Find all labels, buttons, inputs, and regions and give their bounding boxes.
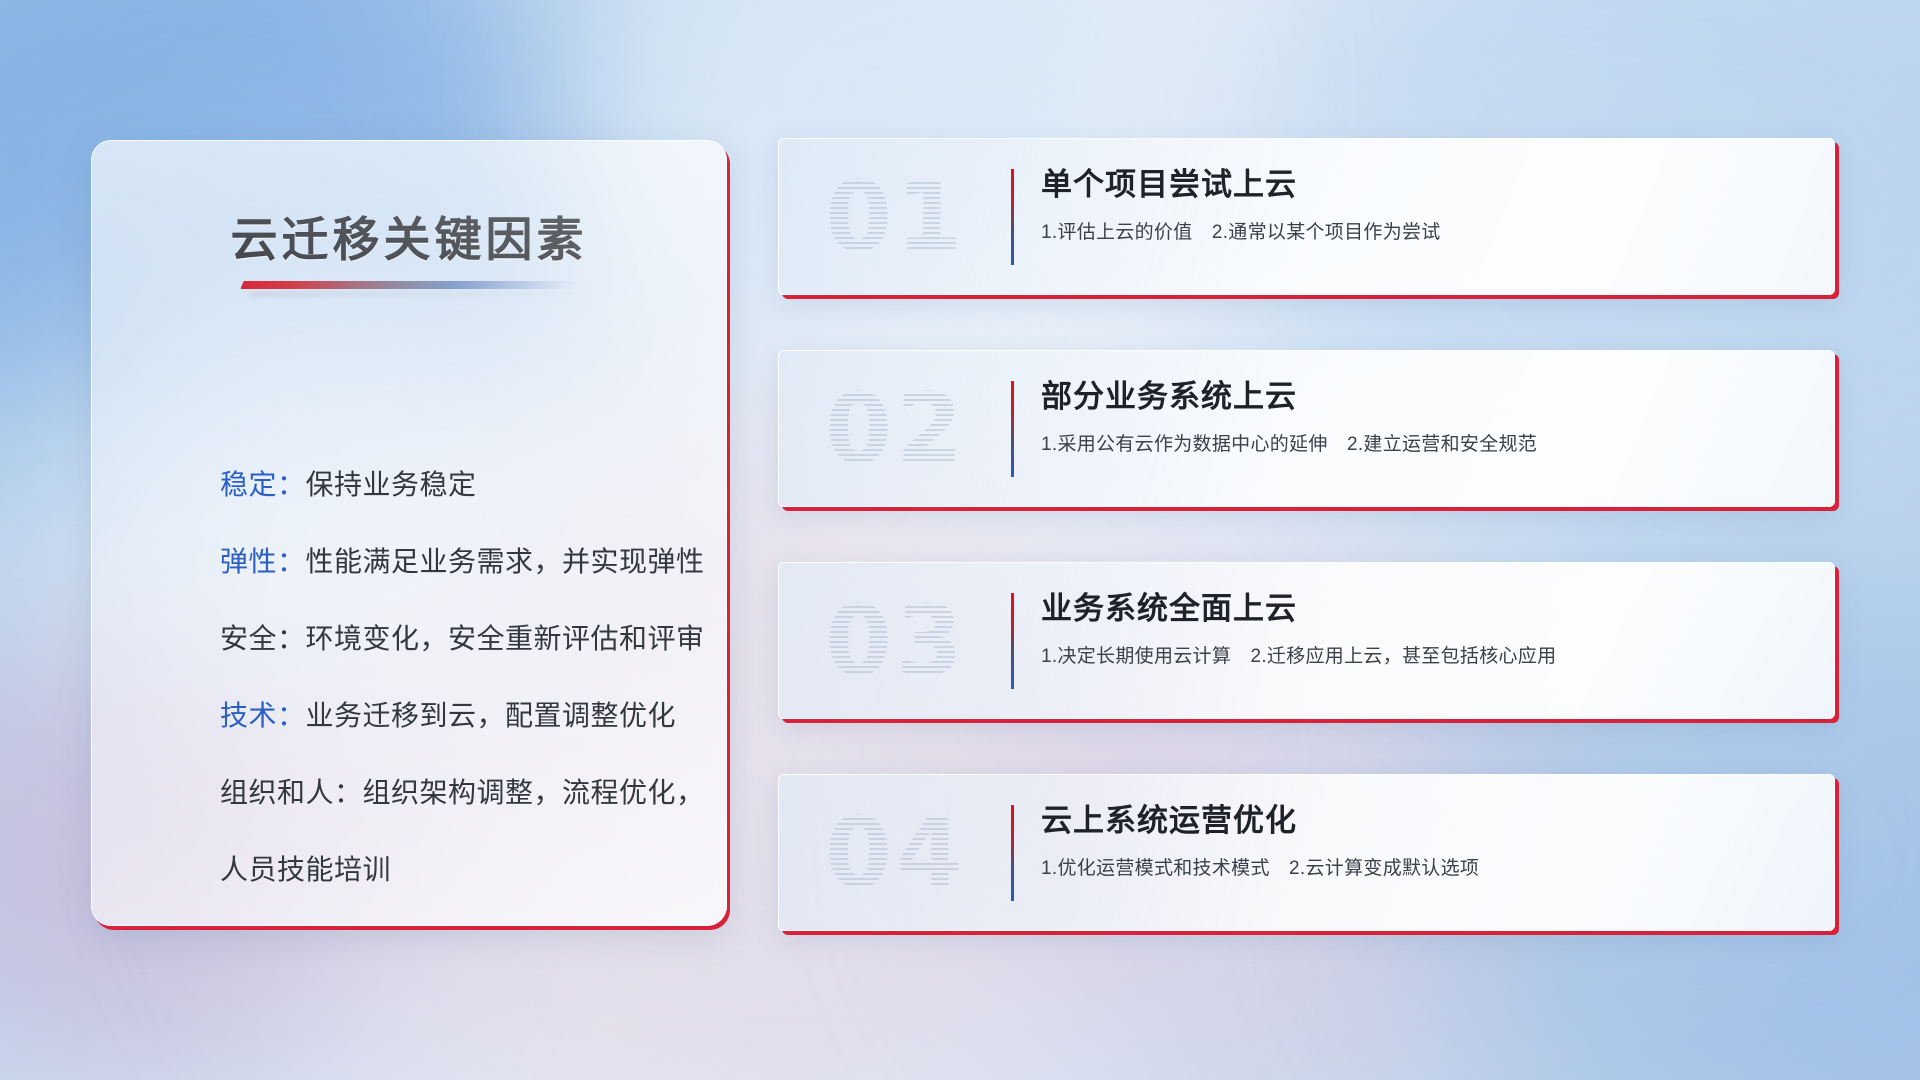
title-underline xyxy=(240,281,583,289)
stage-number-watermark: 01 xyxy=(801,147,991,287)
stage-card-title: 单个项目尝试上云 xyxy=(1041,163,1810,207)
stage-card-description: 1.决定长期使用云计算 2.迁移应用上云，甚至包括核心应用 xyxy=(1041,643,1810,671)
stage-card-title: 业务系统全面上云 xyxy=(1041,587,1810,631)
factor-label: 安全： xyxy=(220,623,306,654)
page-title: 云迁移关键因素 xyxy=(92,201,726,270)
factor-label: 稳定： xyxy=(220,469,306,500)
stage-card-description: 1.优化运营模式和技术模式 2.云计算变成默认选项 xyxy=(1041,855,1810,883)
stage-card[interactable]: 01单个项目尝试上云1.评估上云的价值 2.通常以某个项目作为尝试 xyxy=(778,138,1835,295)
factor-value: 业务迁移到云，配置调整优化 xyxy=(306,700,677,731)
stage-number-watermark: 02 xyxy=(801,359,991,499)
title-underline-shadow xyxy=(249,291,581,297)
key-factors-panel: 云迁移关键因素 稳定：保持业务稳定弹性：性能满足业务需求，并实现弹性安全：环境变… xyxy=(91,140,727,926)
stage-card-description: 1.评估上云的价值 2.通常以某个项目作为尝试 xyxy=(1041,219,1810,247)
factor-value: 保持业务稳定 xyxy=(306,469,477,500)
factor-item-continuation: 人员技能培训 xyxy=(220,856,686,884)
factor-list: 稳定：保持业务稳定弹性：性能满足业务需求，并实现弹性安全：环境变化，安全重新评估… xyxy=(220,471,686,884)
stage-card[interactable]: 03业务系统全面上云1.决定长期使用云计算 2.迁移应用上云，甚至包括核心应用 xyxy=(778,562,1835,719)
accent-bar xyxy=(1011,593,1014,689)
stage-card-body: 部分业务系统上云1.采用公有云作为数据中心的延伸 2.建立运营和安全规范 xyxy=(1041,375,1810,459)
stage-card-body: 云上系统运营优化1.优化运营模式和技术模式 2.云计算变成默认选项 xyxy=(1041,799,1810,883)
factor-item: 组织和人：组织架构调整，流程优化， xyxy=(220,779,686,807)
factor-item: 技术：业务迁移到云，配置调整优化 xyxy=(220,702,686,730)
stage-card-body: 单个项目尝试上云1.评估上云的价值 2.通常以某个项目作为尝试 xyxy=(1041,163,1810,247)
stage-card-title: 部分业务系统上云 xyxy=(1041,375,1810,419)
stage-card-body: 业务系统全面上云1.决定长期使用云计算 2.迁移应用上云，甚至包括核心应用 xyxy=(1041,587,1810,671)
stage-card-description: 1.采用公有云作为数据中心的延伸 2.建立运营和安全规范 xyxy=(1041,431,1810,459)
stage-card[interactable]: 02部分业务系统上云1.采用公有云作为数据中心的延伸 2.建立运营和安全规范 xyxy=(778,350,1835,507)
factor-item: 稳定：保持业务稳定 xyxy=(220,471,686,499)
stage-card-list: 01单个项目尝试上云1.评估上云的价值 2.通常以某个项目作为尝试02部分业务系… xyxy=(778,138,1835,986)
factor-value: 性能满足业务需求，并实现弹性 xyxy=(306,546,705,577)
accent-bar xyxy=(1011,381,1014,477)
stage-card-title: 云上系统运营优化 xyxy=(1041,799,1810,843)
accent-bar xyxy=(1011,805,1014,901)
accent-bar xyxy=(1011,169,1014,265)
factor-label: 技术： xyxy=(220,700,306,731)
stage-number-watermark: 03 xyxy=(801,571,991,711)
factor-item: 安全：环境变化，安全重新评估和评审 xyxy=(220,625,686,653)
stage-number-watermark: 04 xyxy=(801,783,991,923)
factor-label: 弹性： xyxy=(220,546,306,577)
factor-value: 组织架构调整，流程优化， xyxy=(363,777,705,808)
factor-label: 组织和人： xyxy=(220,777,363,808)
factor-value: 人员技能培训 xyxy=(220,854,391,885)
stage-card[interactable]: 04云上系统运营优化1.优化运营模式和技术模式 2.云计算变成默认选项 xyxy=(778,774,1835,931)
factor-value: 环境变化，安全重新评估和评审 xyxy=(306,623,705,654)
factor-item: 弹性：性能满足业务需求，并实现弹性 xyxy=(220,548,686,576)
